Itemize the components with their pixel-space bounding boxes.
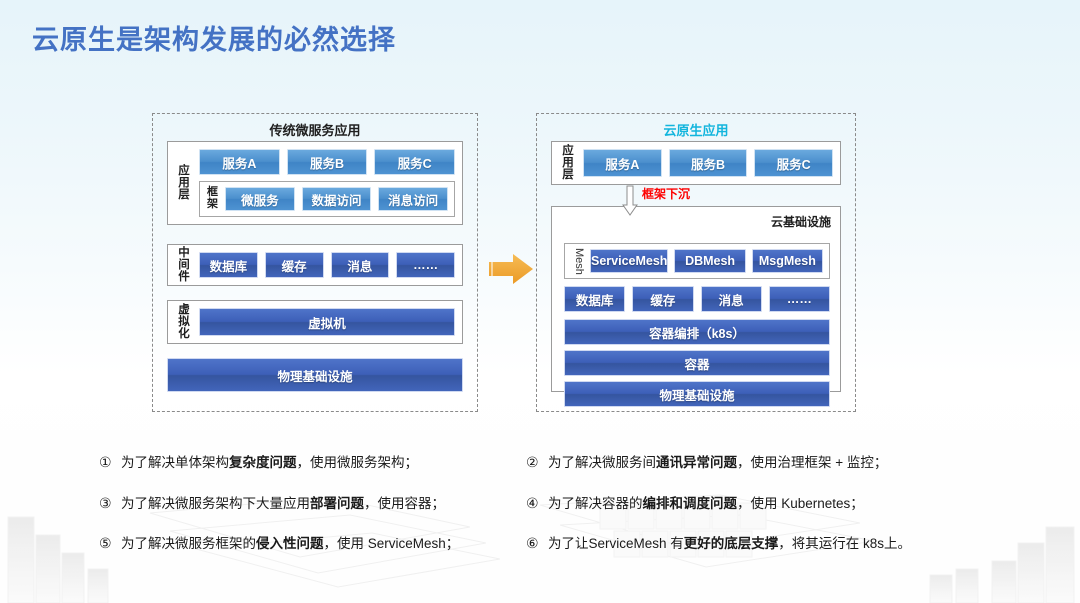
traditional-panel-title: 传统微服务应用: [153, 120, 477, 139]
note-item: ④ 为了解决容器的编排和调度问题，使用 Kubernetes；: [526, 496, 976, 511]
box-virtual-machine-left[interactable]: 虚拟机: [199, 308, 455, 336]
mesh-label: Mesh: [570, 248, 585, 275]
box-message-right[interactable]: 消息: [701, 286, 762, 312]
box-more-right[interactable]: ……: [769, 286, 830, 312]
box-service-c-right[interactable]: 服务C: [754, 149, 833, 177]
note-text: 为了解决容器的编排和调度问题，使用 Kubernetes；: [548, 497, 976, 511]
note-number: ③: [99, 496, 121, 510]
layer-virtualization-left: 虚拟化 虚拟机: [167, 300, 463, 344]
note-text: 为了解决微服务间通讯异常问题，使用治理框架 + 监控；: [548, 456, 976, 470]
notes-right-column: ② 为了解决微服务间通讯异常问题，使用治理框架 + 监控； ④ 为了解决容器的编…: [526, 455, 976, 577]
layer-label-virtualization-left: 虚拟化: [174, 304, 194, 340]
box-servicemesh[interactable]: ServiceMesh: [590, 249, 668, 273]
cloud-native-panel: 云原生应用 应用层 服务A 服务B 服务C 云基础设施 框架下沉 Mesh Se…: [536, 113, 856, 412]
note-number: ①: [99, 455, 121, 469]
note-item: ③ 为了解决微服务架构下大量应用部署问题，使用容器；: [99, 496, 529, 511]
box-msgmesh[interactable]: MsgMesh: [752, 249, 823, 273]
note-number: ⑤: [99, 536, 121, 550]
box-service-a-right[interactable]: 服务A: [583, 149, 662, 177]
layer-application-left: 应用层 服务A 服务B 服务C 框架 微服务 数据访问 消息访问: [167, 141, 463, 225]
note-item: ⑤ 为了解决微服务框架的侵入性问题，使用 ServiceMesh；: [99, 536, 529, 551]
notes-left-column: ① 为了解决单体架构复杂度问题，使用微服务架构； ③ 为了解决微服务架构下大量应…: [99, 455, 529, 577]
note-text: 为了解决单体架构复杂度问题，使用微服务架构；: [121, 456, 529, 470]
framework-sink-down-arrow-icon: [622, 185, 638, 217]
note-item: ① 为了解决单体架构复杂度问题，使用微服务架构；: [99, 455, 529, 470]
cloud-infrastructure-group: 云基础设施 框架下沉 Mesh ServiceMesh DBMesh MsgMe…: [551, 206, 841, 392]
box-message-access-left[interactable]: 消息访问: [378, 187, 448, 211]
box-container[interactable]: 容器: [564, 350, 830, 376]
note-number: ②: [526, 455, 548, 469]
middleware-row-left: 数据库 缓存 消息 ……: [199, 252, 462, 278]
note-number: ④: [526, 496, 548, 510]
note-number: ⑥: [526, 536, 548, 550]
box-service-c-left[interactable]: 服务C: [374, 149, 455, 175]
box-physical-infrastructure-left[interactable]: 物理基础设施: [167, 358, 463, 392]
layer-application-right: 应用层 服务A 服务B 服务C: [551, 141, 841, 185]
layer-middleware-left: 中间件 数据库 缓存 消息 ……: [167, 244, 463, 286]
service-row-right: 服务A 服务B 服务C: [583, 149, 840, 177]
box-service-b-right[interactable]: 服务B: [669, 149, 748, 177]
traditional-microservice-panel: 传统微服务应用 应用层 服务A 服务B 服务C 框架 微服务 数据访问 消息访问…: [152, 113, 478, 412]
layer-label-middleware-left: 中间件: [174, 247, 194, 283]
note-text: 为了解决微服务框架的侵入性问题，使用 ServiceMesh；: [121, 537, 529, 551]
mesh-sublayer: Mesh ServiceMesh DBMesh MsgMesh: [564, 243, 830, 279]
note-text: 为了让ServiceMesh 有更好的底层支撑，将其运行在 k8s上。: [548, 537, 976, 551]
framework-label-left: 框架: [204, 187, 221, 210]
page-title: 云原生是架构发展的必然选择: [32, 18, 396, 57]
service-row-left: 服务A 服务B 服务C: [199, 149, 455, 175]
box-cache-left[interactable]: 缓存: [265, 252, 324, 278]
box-service-b-left[interactable]: 服务B: [287, 149, 368, 175]
note-item: ⑥ 为了让ServiceMesh 有更好的底层支撑，将其运行在 k8s上。: [526, 536, 976, 551]
framework-sublayer-left: 框架 微服务 数据访问 消息访问: [199, 181, 455, 217]
box-dbmesh[interactable]: DBMesh: [674, 249, 745, 273]
layer-label-application-left: 应用层: [174, 165, 194, 201]
note-item: ② 为了解决微服务间通讯异常问题，使用治理框架 + 监控；: [526, 455, 976, 470]
box-microservice-left[interactable]: 微服务: [225, 187, 295, 211]
box-more-left[interactable]: ……: [396, 252, 455, 278]
layer-label-application-right: 应用层: [558, 145, 578, 181]
box-data-access-left[interactable]: 数据访问: [302, 187, 372, 211]
box-container-orchestration[interactable]: 容器编排（k8s）: [564, 319, 830, 345]
box-database-right[interactable]: 数据库: [564, 286, 625, 312]
cloud-native-panel-title: 云原生应用: [537, 120, 855, 139]
middleware-row-right: 数据库 缓存 消息 ……: [564, 286, 830, 312]
virtualization-row-left: 虚拟机: [199, 308, 462, 336]
box-service-a-left[interactable]: 服务A: [199, 149, 280, 175]
box-physical-infrastructure-right[interactable]: 物理基础设施: [564, 381, 830, 407]
box-message-left[interactable]: 消息: [331, 252, 390, 278]
box-cache-right[interactable]: 缓存: [632, 286, 693, 312]
cloud-infrastructure-caption: 云基础设施: [771, 213, 831, 230]
box-database-left[interactable]: 数据库: [199, 252, 258, 278]
transition-right-arrow-icon: [487, 251, 535, 287]
framework-sink-label: 框架下沉: [642, 185, 690, 202]
note-text: 为了解决微服务架构下大量应用部署问题，使用容器；: [121, 497, 529, 511]
